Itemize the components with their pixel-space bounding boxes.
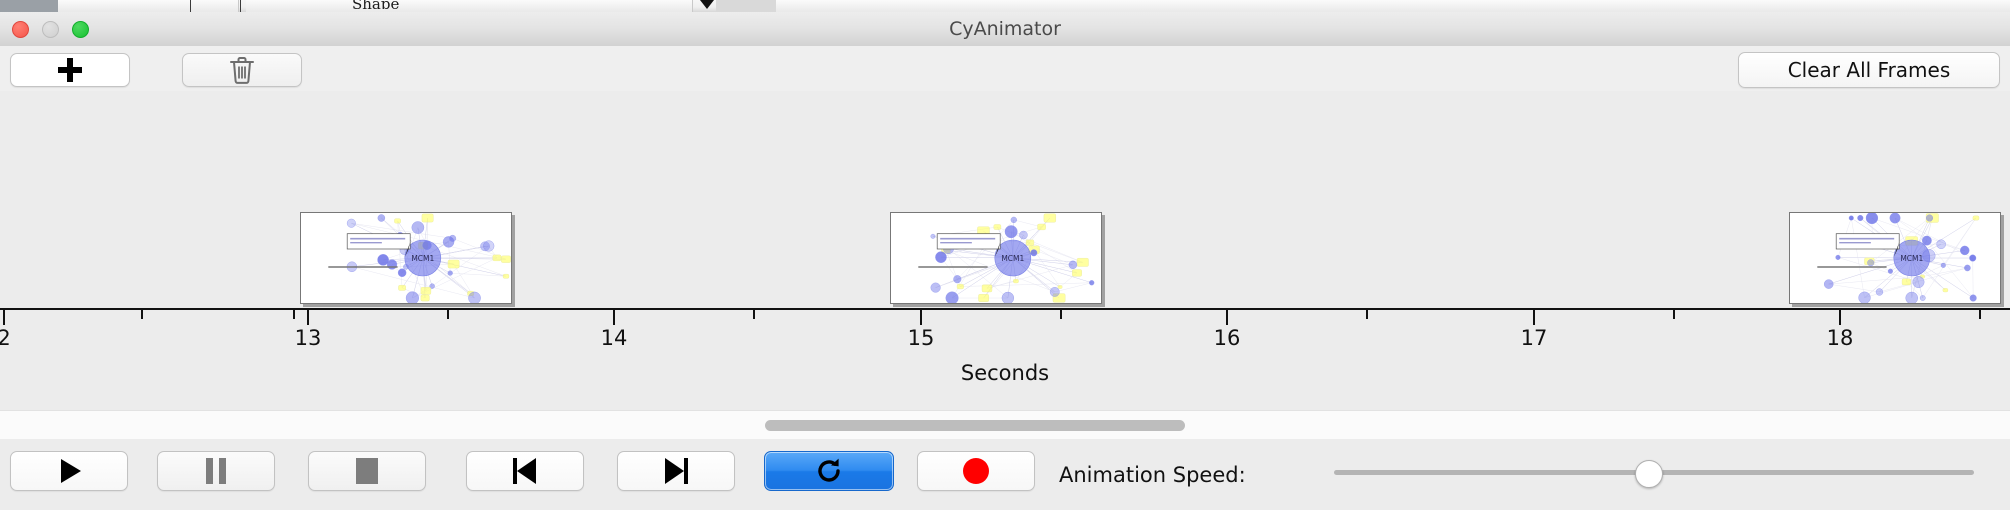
background-tick xyxy=(190,0,191,12)
timeline-scrollbar[interactable] xyxy=(0,410,2010,440)
svg-text:MCM1: MCM1 xyxy=(1900,254,1923,263)
animation-speed-slider-thumb[interactable] xyxy=(1635,460,1663,488)
axis-tick xyxy=(1226,310,1228,325)
background-caret-icon xyxy=(700,0,714,9)
axis-tick xyxy=(293,310,295,319)
axis-tick xyxy=(3,310,5,325)
axis-tick xyxy=(1839,310,1841,325)
stop-icon xyxy=(356,458,378,484)
skip-end-button[interactable] xyxy=(617,451,735,491)
axis-tick-label: 17 xyxy=(1521,326,1548,350)
axis-tick xyxy=(613,310,615,325)
axis-tick xyxy=(753,310,755,319)
toolbar: Clear All Frames xyxy=(0,46,2010,92)
pause-button[interactable] xyxy=(157,451,275,491)
background-window-segment xyxy=(1906,0,1955,12)
axis-tick-label: 14 xyxy=(601,326,628,350)
background-window-segment xyxy=(1954,0,2010,12)
pause-icon xyxy=(206,458,226,484)
axis-tick xyxy=(920,310,922,325)
skip-start-icon xyxy=(513,458,537,484)
background-window-segment xyxy=(746,0,777,12)
svg-text:MCM1: MCM1 xyxy=(411,254,434,263)
loop-icon xyxy=(814,456,844,486)
axis-tick xyxy=(1979,310,1981,319)
axis-tick-label: 18 xyxy=(1827,326,1854,350)
plus-icon xyxy=(58,58,82,82)
skip-start-button[interactable] xyxy=(466,451,584,491)
axis-tick xyxy=(141,310,143,319)
clear-all-frames-button[interactable]: Clear All Frames xyxy=(1738,52,2000,88)
play-icon xyxy=(61,459,81,483)
axis-tick xyxy=(447,310,449,319)
axis-tick-label: 2 xyxy=(0,326,11,350)
background-window-segment xyxy=(246,0,311,12)
axis-tick xyxy=(307,310,309,325)
window-title: CyAnimator xyxy=(0,12,2010,46)
axis-tick xyxy=(1673,310,1675,319)
play-button[interactable] xyxy=(10,451,128,491)
delete-frame-button[interactable] xyxy=(182,53,302,87)
axis-tick-label: 13 xyxy=(295,326,322,350)
background-window-segment xyxy=(776,0,1907,12)
animation-speed-label: Animation Speed: xyxy=(1059,463,1246,487)
playback-toolbar: Animation Speed: xyxy=(0,439,2010,510)
background-window-segment xyxy=(58,0,141,12)
background-window-dark-block xyxy=(0,0,58,12)
frame-thumbnail-1[interactable]: MCM1 xyxy=(300,212,512,304)
timeline-panel[interactable]: MCM1MCM1MCM1 xyxy=(0,91,2010,319)
axis-tick xyxy=(1366,310,1368,319)
stop-button[interactable] xyxy=(308,451,426,491)
svg-text:MCM1: MCM1 xyxy=(1001,254,1024,263)
skip-end-icon xyxy=(664,458,688,484)
add-frame-button[interactable] xyxy=(10,53,130,87)
loop-button[interactable] xyxy=(764,451,894,491)
trash-icon xyxy=(228,55,256,85)
background-window-label: Shape xyxy=(352,0,399,9)
timeline-scrollbar-thumb[interactable] xyxy=(765,420,1185,431)
record-icon xyxy=(963,458,989,484)
title-bar: CyAnimator xyxy=(0,12,2010,47)
frame-thumbnail-3[interactable]: MCM1 xyxy=(1789,212,2001,304)
timeline-axis-line xyxy=(0,308,2010,310)
background-window-segment xyxy=(716,0,747,12)
background-tick xyxy=(240,0,241,12)
axis-tick-label: 16 xyxy=(1214,326,1241,350)
axis-tick xyxy=(1060,310,1062,319)
timeline-axis-caption: Seconds xyxy=(0,361,2010,385)
record-button[interactable] xyxy=(917,451,1035,491)
frame-thumbnail-2[interactable]: MCM1 xyxy=(890,212,1102,304)
background-window-strip: Shape xyxy=(0,0,2010,12)
background-window-segment xyxy=(140,0,183,12)
axis-tick xyxy=(1533,310,1535,325)
timeline-frames-container: MCM1MCM1MCM1 xyxy=(0,91,2010,319)
clear-all-frames-label: Clear All Frames xyxy=(1788,58,1951,82)
cyanimator-window: Shape CyAnimator Clear All Frames xyxy=(0,0,2010,510)
axis-tick-label: 15 xyxy=(908,326,935,350)
background-window-segment xyxy=(450,0,693,12)
